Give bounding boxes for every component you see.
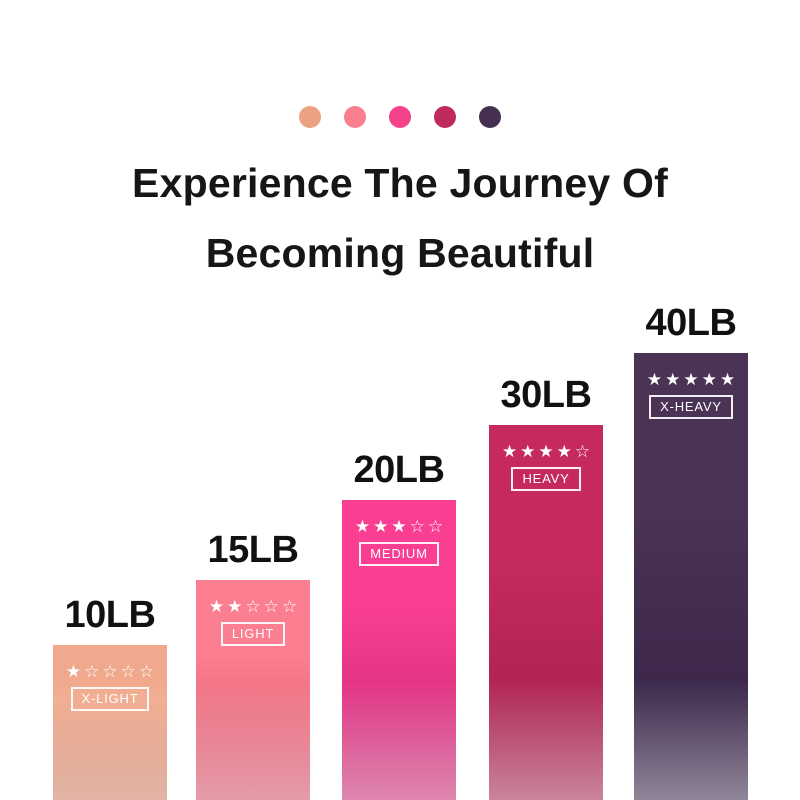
- star-empty-icon: ☆: [84, 663, 99, 680]
- bar-value-label: 20LB: [354, 449, 445, 492]
- star-filled-icon: ★: [209, 598, 224, 615]
- bar-badge: ★☆☆☆☆X-LIGHT: [53, 663, 167, 711]
- bar-value-label: 40LB: [646, 302, 737, 345]
- star-filled-icon: ★: [502, 443, 517, 460]
- star-empty-icon: ☆: [245, 598, 260, 615]
- star-filled-icon: ★: [683, 371, 698, 388]
- bar-group-30lb[interactable]: 30LB★★★★☆HEAVY: [489, 425, 603, 800]
- bar-rect[interactable]: ★★★★☆HEAVY: [489, 425, 603, 800]
- resistance-band-bar-chart: 10LB★☆☆☆☆X-LIGHT15LB★★☆☆☆LIGHT20LB★★★☆☆M…: [0, 0, 800, 800]
- star-filled-icon: ★: [720, 371, 735, 388]
- bar-value-label: 10LB: [65, 594, 156, 637]
- star-filled-icon: ★: [520, 443, 535, 460]
- bar-value-label: 30LB: [501, 374, 592, 417]
- star-filled-icon: ★: [665, 371, 680, 388]
- level-pill: MEDIUM: [359, 542, 439, 566]
- bar-rect[interactable]: ★★★★★X-HEAVY: [634, 353, 748, 800]
- star-empty-icon: ☆: [121, 663, 136, 680]
- bar-rect[interactable]: ★★★☆☆MEDIUM: [342, 500, 456, 800]
- star-filled-icon: ★: [538, 443, 553, 460]
- star-empty-icon: ☆: [575, 443, 590, 460]
- bar-bottom-fade: [489, 680, 603, 800]
- level-pill: X-HEAVY: [649, 395, 733, 419]
- star-filled-icon: ★: [227, 598, 242, 615]
- star-empty-icon: ☆: [264, 598, 279, 615]
- bar-bottom-fade: [196, 680, 310, 800]
- bar-group-15lb[interactable]: 15LB★★☆☆☆LIGHT: [196, 580, 310, 800]
- rating-stars: ★★★☆☆: [355, 518, 443, 535]
- bar-group-10lb[interactable]: 10LB★☆☆☆☆X-LIGHT: [53, 645, 167, 800]
- star-filled-icon: ★: [66, 663, 81, 680]
- rating-stars: ★☆☆☆☆: [66, 663, 154, 680]
- product-infographic-poster: Experience The Journey Of Becoming Beaut…: [0, 0, 800, 800]
- bar-value-label: 15LB: [208, 529, 299, 572]
- rating-stars: ★★★★★: [647, 371, 735, 388]
- bar-rect[interactable]: ★★☆☆☆LIGHT: [196, 580, 310, 800]
- star-empty-icon: ☆: [282, 598, 297, 615]
- bar-bottom-fade: [634, 680, 748, 800]
- star-filled-icon: ★: [355, 518, 370, 535]
- bar-badge: ★★★★★X-HEAVY: [634, 371, 748, 419]
- bar-rect[interactable]: ★☆☆☆☆X-LIGHT: [53, 645, 167, 800]
- star-empty-icon: ☆: [102, 663, 117, 680]
- bar-badge: ★★★★☆HEAVY: [489, 443, 603, 491]
- star-filled-icon: ★: [391, 518, 406, 535]
- level-pill: HEAVY: [511, 467, 580, 491]
- star-empty-icon: ☆: [410, 518, 425, 535]
- rating-stars: ★★☆☆☆: [209, 598, 297, 615]
- star-filled-icon: ★: [702, 371, 717, 388]
- level-pill: X-LIGHT: [71, 687, 150, 711]
- bar-bottom-fade: [342, 680, 456, 800]
- rating-stars: ★★★★☆: [502, 443, 590, 460]
- bar-badge: ★★★☆☆MEDIUM: [342, 518, 456, 566]
- star-filled-icon: ★: [557, 443, 572, 460]
- bar-badge: ★★☆☆☆LIGHT: [196, 598, 310, 646]
- star-filled-icon: ★: [373, 518, 388, 535]
- star-empty-icon: ☆: [428, 518, 443, 535]
- star-empty-icon: ☆: [139, 663, 154, 680]
- bar-group-40lb[interactable]: 40LB★★★★★X-HEAVY: [634, 353, 748, 800]
- level-pill: LIGHT: [221, 622, 285, 646]
- bar-group-20lb[interactable]: 20LB★★★☆☆MEDIUM: [342, 500, 456, 800]
- star-filled-icon: ★: [647, 371, 662, 388]
